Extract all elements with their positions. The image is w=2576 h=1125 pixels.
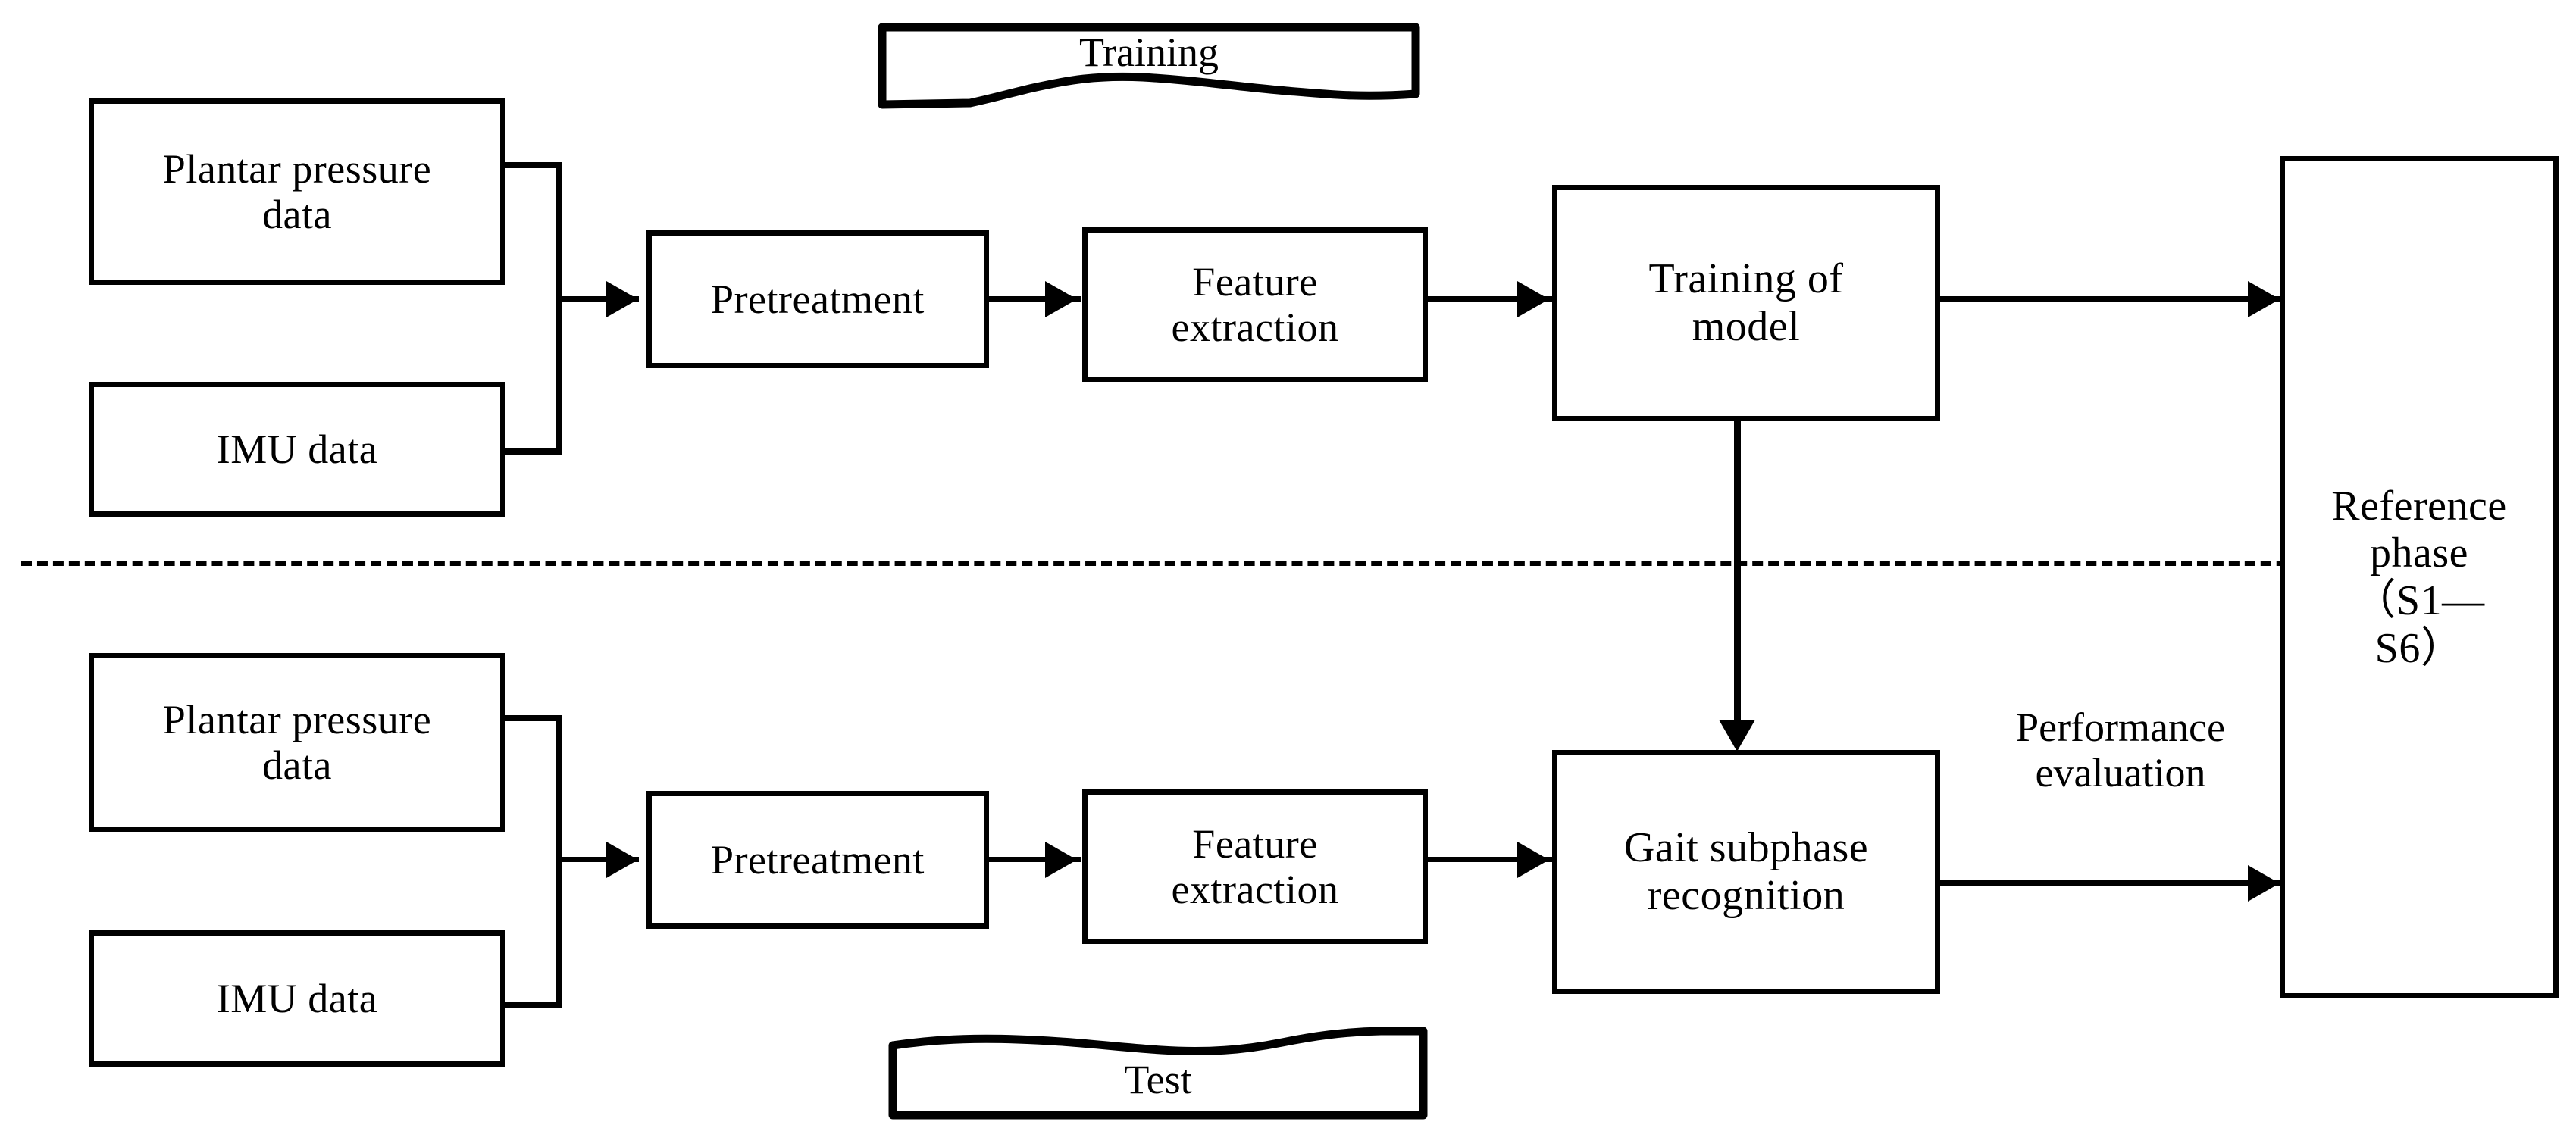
model-to-recognition-arrowhead: [1719, 720, 1755, 752]
test-input-imu[interactable]: IMU data: [89, 930, 505, 1067]
training-stage-training-of-model-label: Training of model: [1648, 255, 1843, 350]
training-banner: Training: [878, 20, 1420, 126]
test-pretreatment-arrowhead: [606, 842, 638, 878]
training-stage-feature-extraction[interactable]: Feature extraction: [1082, 227, 1428, 382]
training-stage-feature-extraction-label: Feature extraction: [1172, 259, 1339, 351]
training-input-merge-bracket: [500, 161, 568, 456]
test-feature-arrowhead: [1045, 842, 1077, 878]
training-model-arrowhead: [1517, 281, 1549, 317]
training-input-imu[interactable]: IMU data: [89, 382, 505, 517]
test-banner: Test: [888, 1027, 1428, 1124]
test-stage-gait-subphase-recognition[interactable]: Gait subphase recognition: [1552, 750, 1940, 994]
test-stage-gait-subphase-recognition-label: Gait subphase recognition: [1624, 824, 1868, 919]
recognition-reference-arrowhead: [2248, 865, 2280, 902]
training-input-plantar-pressure[interactable]: Plantar pressure data: [89, 98, 505, 285]
test-input-imu-label: IMU data: [217, 976, 377, 1021]
test-recognition-arrowhead: [1517, 842, 1549, 878]
training-reference-arrowhead: [2248, 281, 2280, 317]
test-stage-feature-extraction-label: Feature extraction: [1172, 821, 1339, 913]
model-to-recognition-line: [1734, 417, 1741, 729]
training-banner-label: Training: [878, 32, 1420, 73]
training-stage-pretreatment-label: Pretreatment: [711, 277, 925, 322]
test-stage-pretreatment[interactable]: Pretreatment: [646, 791, 989, 929]
training-stage-training-of-model[interactable]: Training of model: [1552, 185, 1940, 421]
train-test-divider: [21, 561, 2557, 566]
training-model-to-reference-line: [1940, 296, 2289, 302]
test-input-plantar-pressure[interactable]: Plantar pressure data: [89, 653, 505, 832]
training-pretreatment-arrowhead: [606, 281, 638, 317]
test-stage-feature-extraction[interactable]: Feature extraction: [1082, 789, 1428, 944]
training-stage-pretreatment[interactable]: Pretreatment: [646, 230, 989, 368]
training-input-imu-label: IMU data: [217, 427, 377, 472]
recognition-to-reference-line: [1940, 880, 2289, 886]
performance-evaluation-edge-label: Performance evaluation: [1954, 705, 2287, 796]
training-feature-arrowhead: [1045, 281, 1077, 317]
test-stage-pretreatment-label: Pretreatment: [711, 837, 925, 883]
training-input-plantar-pressure-label: Plantar pressure data: [163, 146, 431, 238]
flowchart-canvas: Training Plantar pressure data IMU data …: [0, 0, 2576, 1125]
output-reference-phase[interactable]: Reference phase （S1— S6）: [2280, 156, 2559, 998]
output-reference-phase-label: Reference phase （S1— S6）: [2331, 483, 2506, 673]
test-input-plantar-pressure-label: Plantar pressure data: [163, 697, 431, 789]
test-banner-label: Test: [888, 1059, 1428, 1100]
